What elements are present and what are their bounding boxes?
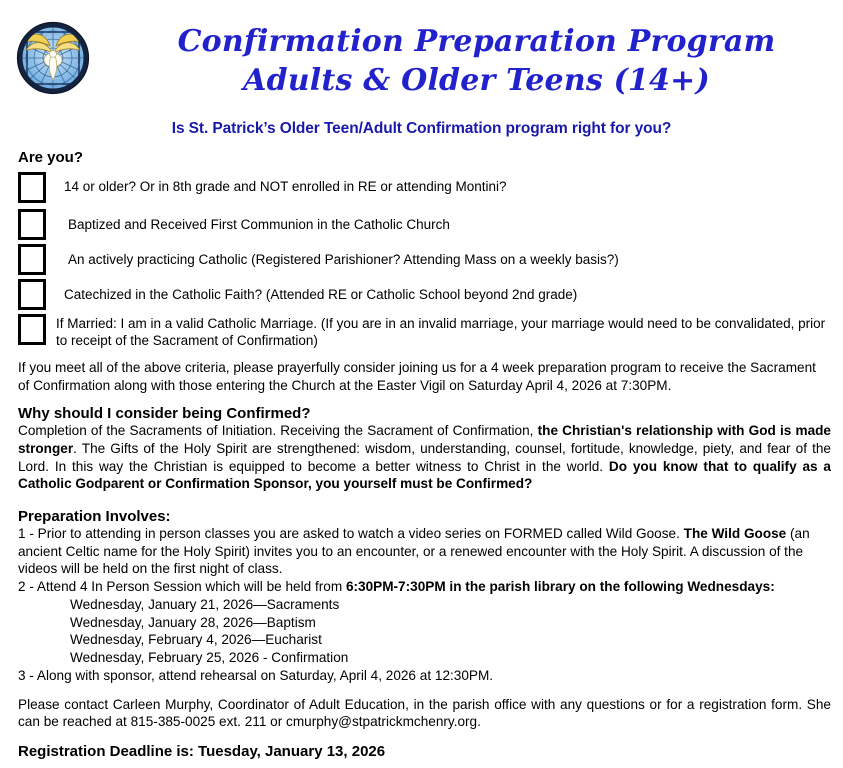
- stained-glass-dove-window-logo: [16, 8, 90, 108]
- document-header: Confirmation Preparation Program Adults …: [0, 0, 843, 115]
- preparation-item-3: 3 - Along with sponsor, attend rehearsal…: [18, 667, 831, 685]
- why-confirmed-heading: Why should I consider being Confirmed?: [18, 405, 831, 422]
- checklist-item[interactable]: An actively practicing Catholic (Registe…: [18, 244, 831, 277]
- checklist-item-label: An actively practicing Catholic (Registe…: [68, 244, 831, 269]
- checklist-item-label: Baptized and Received First Communion in…: [68, 209, 831, 234]
- prep1-bold: The Wild Goose: [684, 526, 787, 541]
- session-date: Wednesday, January 21, 2026—Sacraments: [70, 596, 831, 614]
- checkbox-married[interactable]: [18, 314, 46, 345]
- document-title: Confirmation Preparation Program Adults …: [120, 22, 833, 100]
- checklist-item-label: If Married: I am in a valid Catholic Mar…: [56, 314, 831, 350]
- preparation-item-2: 2 - Attend 4 In Person Session which wil…: [18, 578, 831, 596]
- session-date: Wednesday, February 4, 2026—Eucharist: [70, 631, 831, 649]
- why-text-part1: Completion of the Sacraments of Initiati…: [18, 423, 538, 438]
- checklist-item-label: Catechized in the Catholic Faith? (Atten…: [64, 279, 831, 304]
- checklist-item[interactable]: 14 or older? Or in 8th grade and NOT enr…: [18, 172, 831, 205]
- checkbox-practicing[interactable]: [18, 244, 46, 275]
- checklist-item[interactable]: Baptized and Received First Communion in…: [18, 209, 831, 242]
- preparation-heading: Preparation Involves:: [18, 508, 831, 525]
- session-date: Wednesday, January 28, 2026—Baptism: [70, 614, 831, 632]
- why-confirmed-paragraph: Completion of the Sacraments of Initiati…: [18, 422, 831, 493]
- are-you-heading: Are you?: [18, 149, 831, 166]
- title-line-2: Adults & Older Teens (14+): [120, 61, 833, 100]
- criteria-paragraph: If you meet all of the above criteria, p…: [18, 359, 831, 394]
- checklist-item-label: 14 or older? Or in 8th grade and NOT enr…: [64, 172, 831, 196]
- eligibility-checklist: 14 or older? Or in 8th grade and NOT enr…: [18, 172, 831, 350]
- document-body: Are you? 14 or older? Or in 8th grade an…: [0, 149, 843, 760]
- preparation-item-1: 1 - Prior to attending in person classes…: [18, 525, 831, 578]
- registration-deadline: Registration Deadline is: Tuesday, Janua…: [18, 743, 831, 760]
- checkbox-catechized[interactable]: [18, 279, 46, 310]
- checkbox-baptized[interactable]: [18, 209, 46, 240]
- prep2-part1: 2 - Attend 4 In Person Session which wil…: [18, 579, 346, 594]
- contact-paragraph: Please contact Carleen Murphy, Coordinat…: [18, 696, 831, 731]
- checklist-item[interactable]: Catechized in the Catholic Faith? (Atten…: [18, 279, 831, 312]
- prep2-bold: 6:30PM-7:30PM in the parish library on t…: [346, 579, 775, 594]
- checkbox-age[interactable]: [18, 172, 46, 203]
- session-dates-list: Wednesday, January 21, 2026—Sacraments W…: [70, 596, 831, 667]
- checklist-item[interactable]: If Married: I am in a valid Catholic Mar…: [18, 314, 831, 350]
- document-subtitle: Is St. Patrick’s Older Teen/Adult Confir…: [0, 120, 843, 138]
- prep1-part1: 1 - Prior to attending in person classes…: [18, 526, 684, 541]
- title-line-1: Confirmation Preparation Program: [120, 22, 833, 61]
- session-date: Wednesday, February 25, 2026 - Confirmat…: [70, 649, 831, 667]
